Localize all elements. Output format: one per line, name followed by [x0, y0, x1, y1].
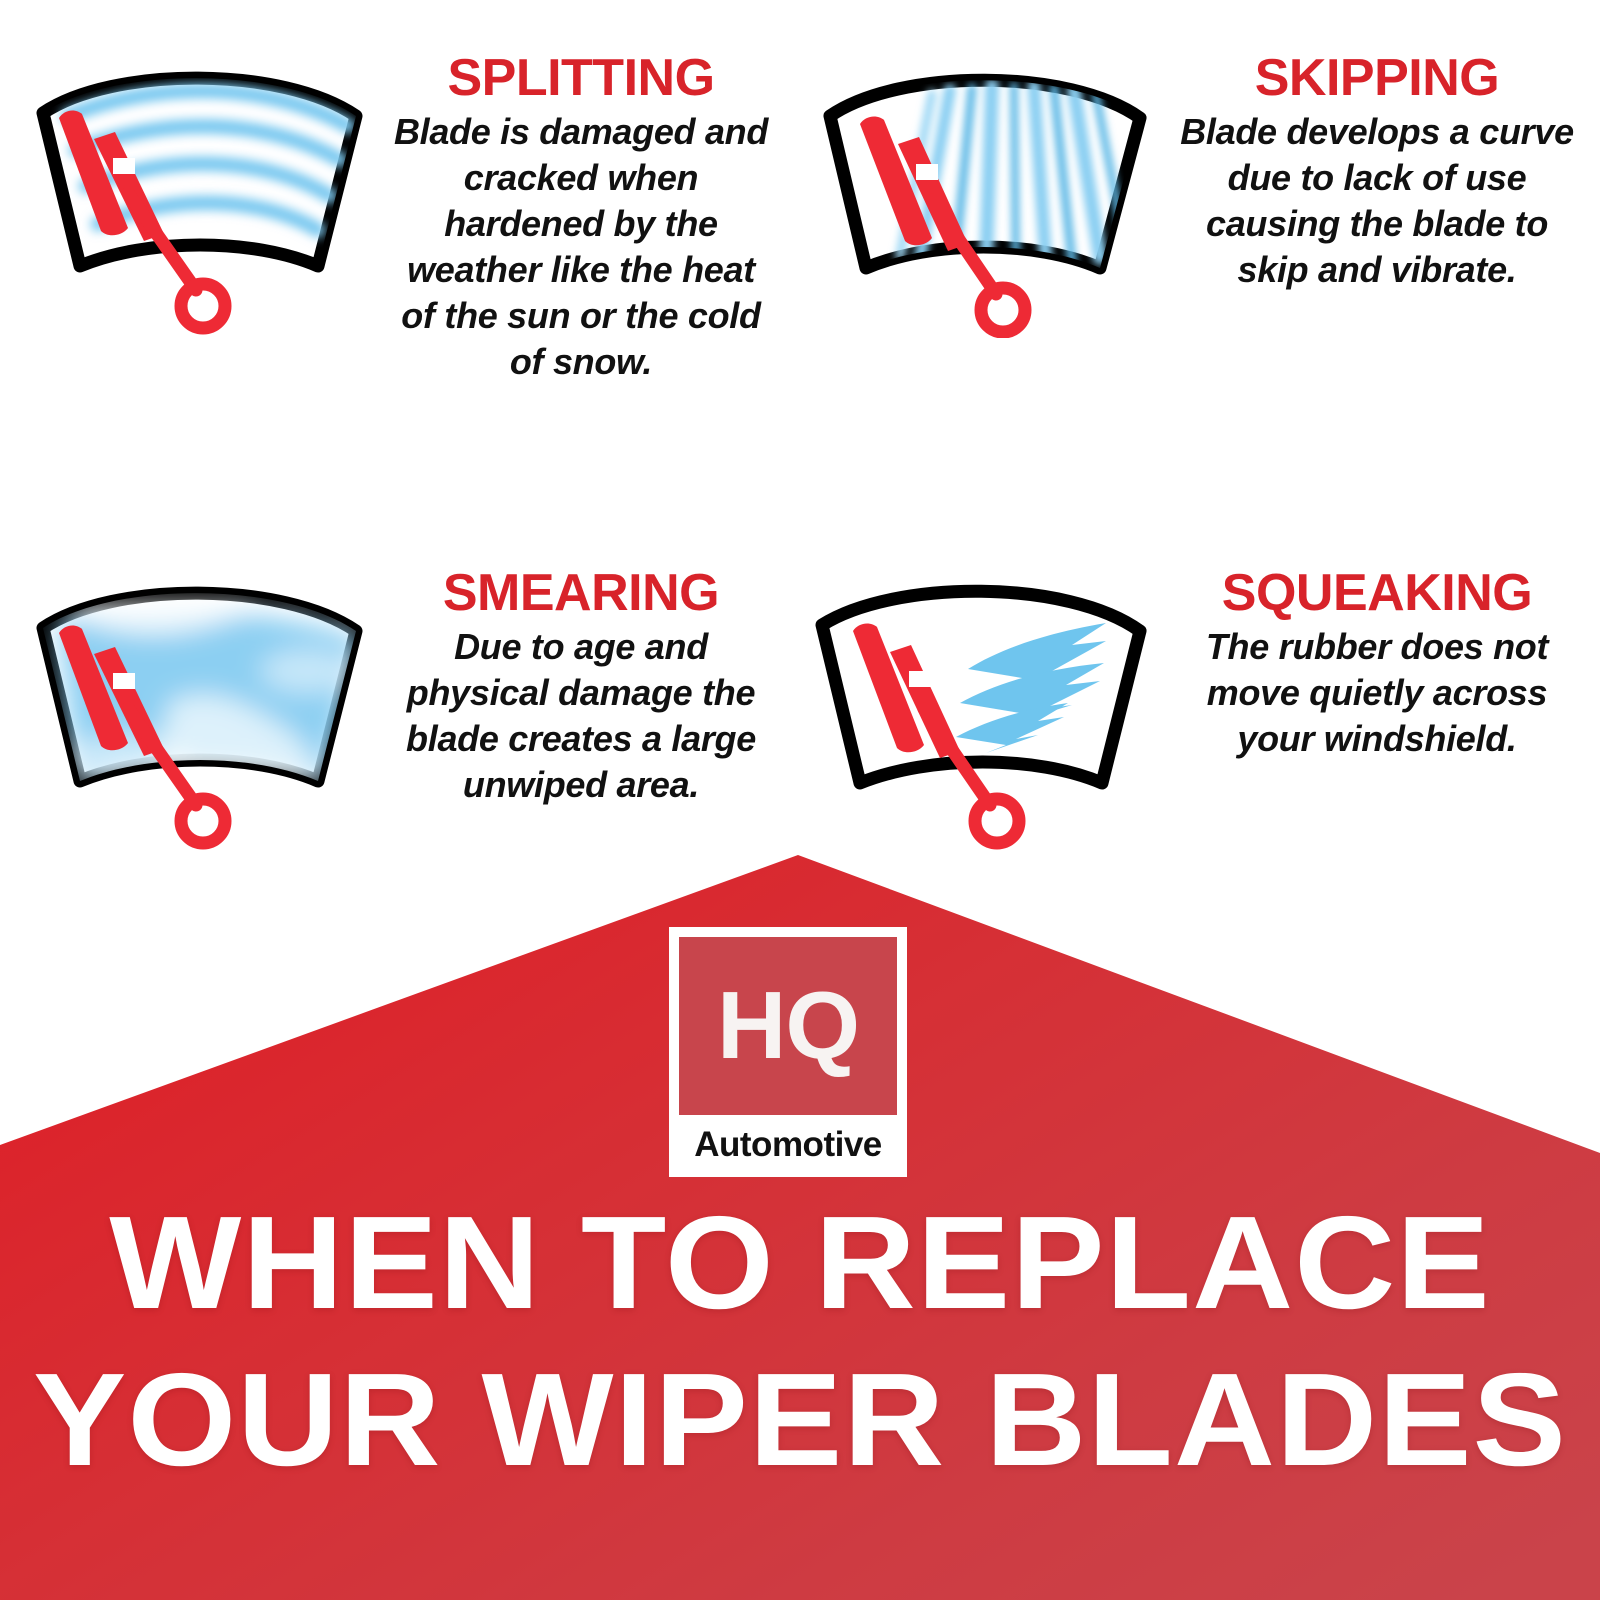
tip-card-smearing: SMEARING Due to age and physical damage …	[18, 553, 788, 853]
logo-mark-box: HQ	[679, 937, 897, 1115]
wiper-problems-grid: SPLITTING Blade is damaged and cracked w…	[0, 0, 1600, 860]
headline: WHEN TO REPLACE YOUR WIPER BLADES	[0, 1196, 1600, 1487]
wiper-squeaking-icon	[800, 553, 1160, 853]
wiper-skipping-icon	[800, 38, 1160, 338]
tip-card-splitting: SPLITTING Blade is damaged and cracked w…	[18, 38, 788, 386]
tip-body: The rubber does not move quietly across …	[1174, 624, 1580, 762]
tip-card-skipping: SKIPPING Blade develops a curve due to l…	[800, 38, 1590, 338]
brand-logo: HQ Automotive	[669, 927, 907, 1177]
headline-line-1: WHEN TO REPLACE	[0, 1196, 1600, 1331]
tip-card-squeaking: SQUEAKING The rubber does not move quiet…	[800, 553, 1590, 853]
headline-line-2: YOUR WIPER BLADES	[0, 1353, 1600, 1488]
wiper-smearing-icon	[18, 553, 378, 853]
wiper-splitting-icon	[18, 38, 378, 338]
tip-title: SKIPPING	[1174, 52, 1580, 105]
tip-title: SPLITTING	[388, 52, 774, 105]
logo-subtitle: Automotive	[679, 1127, 897, 1162]
tip-title: SQUEAKING	[1174, 567, 1580, 620]
tip-body: Blade is damaged and cracked when harden…	[388, 109, 774, 385]
tip-body: Due to age and physical damage the blade…	[388, 624, 774, 808]
tip-title: SMEARING	[388, 567, 774, 620]
tip-body: Blade develops a curve due to lack of us…	[1174, 109, 1580, 293]
logo-mark-text: HQ	[717, 978, 859, 1074]
